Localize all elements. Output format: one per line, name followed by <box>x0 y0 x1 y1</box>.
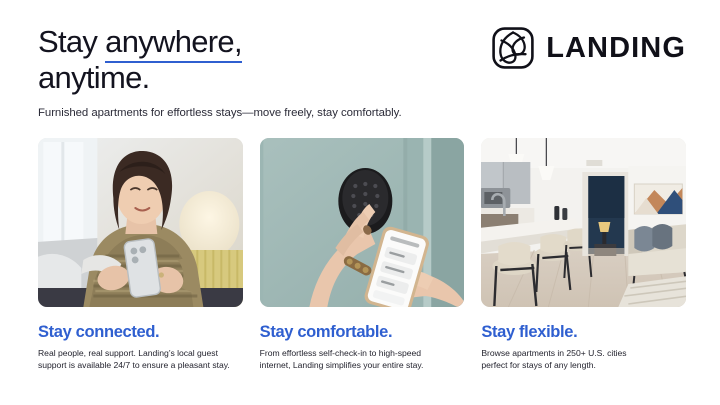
card-image-woman-on-couch-using-phone <box>38 138 243 307</box>
brand-logo: LANDING <box>491 26 686 70</box>
card-body-line: perfect for stays of any length. <box>481 359 676 371</box>
card-body-line: From effortless self-check-in to high-sp… <box>260 347 455 359</box>
card-body: Real people, real support. Landing’s loc… <box>38 347 233 372</box>
card-image-smart-lock-keypad <box>260 138 465 307</box>
card-title: Stay flexible. <box>481 322 686 342</box>
card-body-line: Real people, real support. Landing’s loc… <box>38 347 233 359</box>
card-body-line: support is available 24/7 to ensure a pl… <box>38 359 233 371</box>
card-body-line: internet, Landing simplifies your entire… <box>260 359 455 371</box>
page-subheadline: Furnished apartments for effortless stay… <box>38 106 402 121</box>
card-title: Stay connected. <box>38 322 243 342</box>
brand-wordmark: LANDING <box>546 34 686 63</box>
slide-root: Stay anywhere,anytime. Furnished apartme… <box>0 0 720 405</box>
feature-card[interactable]: Stay comfortable. From effortless self-c… <box>260 138 465 372</box>
feature-card[interactable]: Stay connected. Real people, real suppor… <box>38 138 243 372</box>
card-image-apartment-interior <box>481 138 686 307</box>
card-body: Browse apartments in 250+ U.S. cities pe… <box>481 347 676 372</box>
feature-card-list: Stay connected. Real people, real suppor… <box>38 138 686 372</box>
headline-underlined-word: anywhere, <box>105 24 242 60</box>
card-title: Stay comfortable. <box>260 322 465 342</box>
card-body: From effortless self-check-in to high-sp… <box>260 347 455 372</box>
card-body-line: Browse apartments in 250+ U.S. cities <box>481 347 676 359</box>
feature-card[interactable]: Stay flexible. Browse apartments in 250+… <box>481 138 686 372</box>
landing-loop-mark-icon <box>491 26 535 70</box>
headline-prefix: Stay <box>38 24 105 59</box>
